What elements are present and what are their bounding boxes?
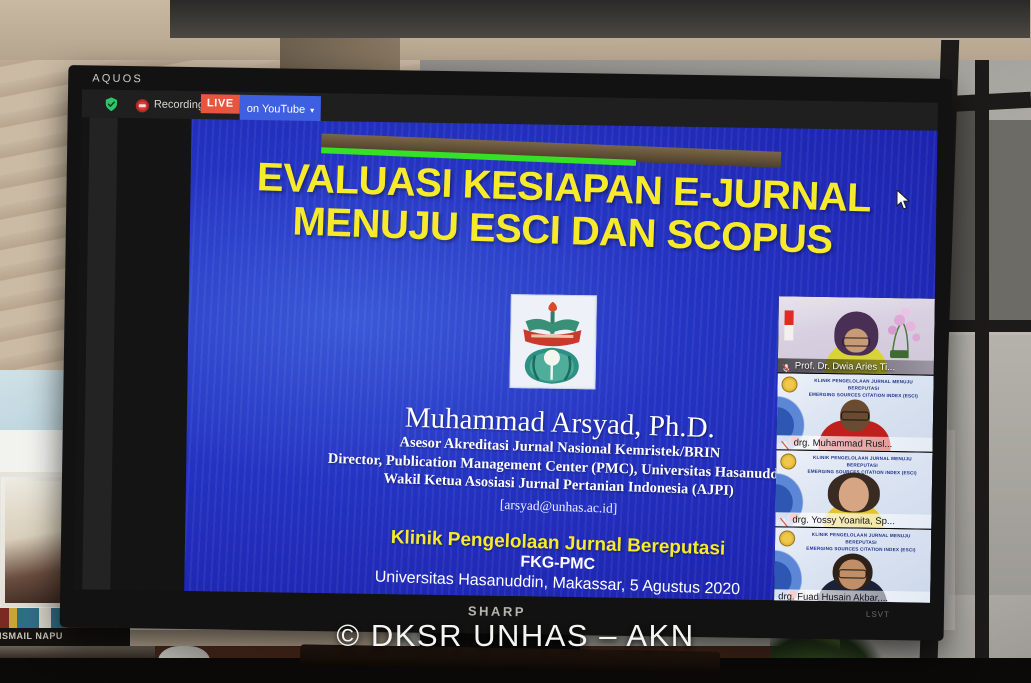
mic-muted-icon xyxy=(779,514,788,524)
face xyxy=(844,328,868,352)
window-glass-2 xyxy=(989,120,1031,330)
hair xyxy=(828,472,881,513)
unhas-crest-logo xyxy=(509,294,596,389)
participant-name: drg. Fuad Husain Akbar,... xyxy=(778,591,888,603)
participant-name: Prof. Dr. Dwia Aries Ti... xyxy=(795,360,895,373)
participant-name-bar: drg. Muhammad Rusl... xyxy=(777,435,933,451)
mouse-pointer-icon xyxy=(896,190,910,215)
stream-target-dropdown[interactable]: on YouTube ▾ xyxy=(240,95,322,123)
door-frame-right xyxy=(975,60,989,683)
live-badge: LIVE xyxy=(201,94,240,114)
framed-photo-image xyxy=(5,481,61,603)
participant-name: drg. Muhammad Rusl... xyxy=(794,437,893,450)
sharp-aquos-monitor: AQUOS SHARP LSVT Recording LIVE xyxy=(60,65,953,641)
shield-check-icon[interactable] xyxy=(104,97,119,112)
participant-thumbnail-strip[interactable]: Prof. Dr. Dwia Aries Ti... KLINIK PENGEL… xyxy=(774,296,935,602)
chevron-down-icon: ▾ xyxy=(310,105,314,114)
monitor-screen-area: AQUOS SHARP LSVT Recording LIVE xyxy=(60,65,953,641)
participant-thumbnail[interactable]: Prof. Dr. Dwia Aries Ti... xyxy=(778,296,935,375)
participant-thumbnail[interactable]: KLINIK PENGELOLAAN JURNAL MENUJU BEREPUT… xyxy=(774,527,931,602)
face xyxy=(840,399,870,431)
glasses-icon xyxy=(841,411,869,420)
participant-thumbnail[interactable]: KLINIK PENGELOLAAN JURNAL MENUJU BEREPUT… xyxy=(775,450,932,529)
participant-name-bar: drg. Yossy Yoanita, Sp... xyxy=(775,512,931,528)
ceiling-beam xyxy=(170,0,1030,38)
participant-name-bar: drg. Fuad Husain Akbar,... xyxy=(774,589,930,602)
participant-name: drg. Yossy Yoanita, Sp... xyxy=(792,514,895,527)
mic-muted-icon xyxy=(782,360,791,370)
glasses-icon xyxy=(842,337,870,346)
face xyxy=(839,477,870,511)
screenshot-root: ISMAIL NAPU AQUOS SHARP LSVT xyxy=(0,0,1031,683)
photo-watermark: © DKSR UNHAS – AKN xyxy=(0,618,1031,654)
participant-thumbnail[interactable]: KLINIK PENGELOLAAN JURNAL MENUJU BEREPUT… xyxy=(777,373,934,452)
slide-title: EVALUASI KESIAPAN E-JURNAL MENUJU ESCI D… xyxy=(189,154,938,266)
participant-name-bar: Prof. Dr. Dwia Aries Ti... xyxy=(778,358,934,374)
door-frame-mid xyxy=(945,320,1031,332)
aquos-brand-label: AQUOS xyxy=(92,72,143,85)
recording-label: Recording xyxy=(154,98,204,111)
window-glass-3 xyxy=(948,335,1031,595)
glasses-icon xyxy=(839,569,867,578)
recording-dot-icon[interactable] xyxy=(136,99,149,112)
sharp-brand-label: SHARP xyxy=(468,603,526,619)
zoom-meeting-window: Recording LIVE on YouTube ▾ EVALUASI KES… xyxy=(74,89,938,602)
hair xyxy=(832,553,873,590)
stream-target-label: on YouTube xyxy=(247,103,306,116)
mic-muted-icon xyxy=(781,437,790,447)
indonesian-flag xyxy=(784,310,793,340)
